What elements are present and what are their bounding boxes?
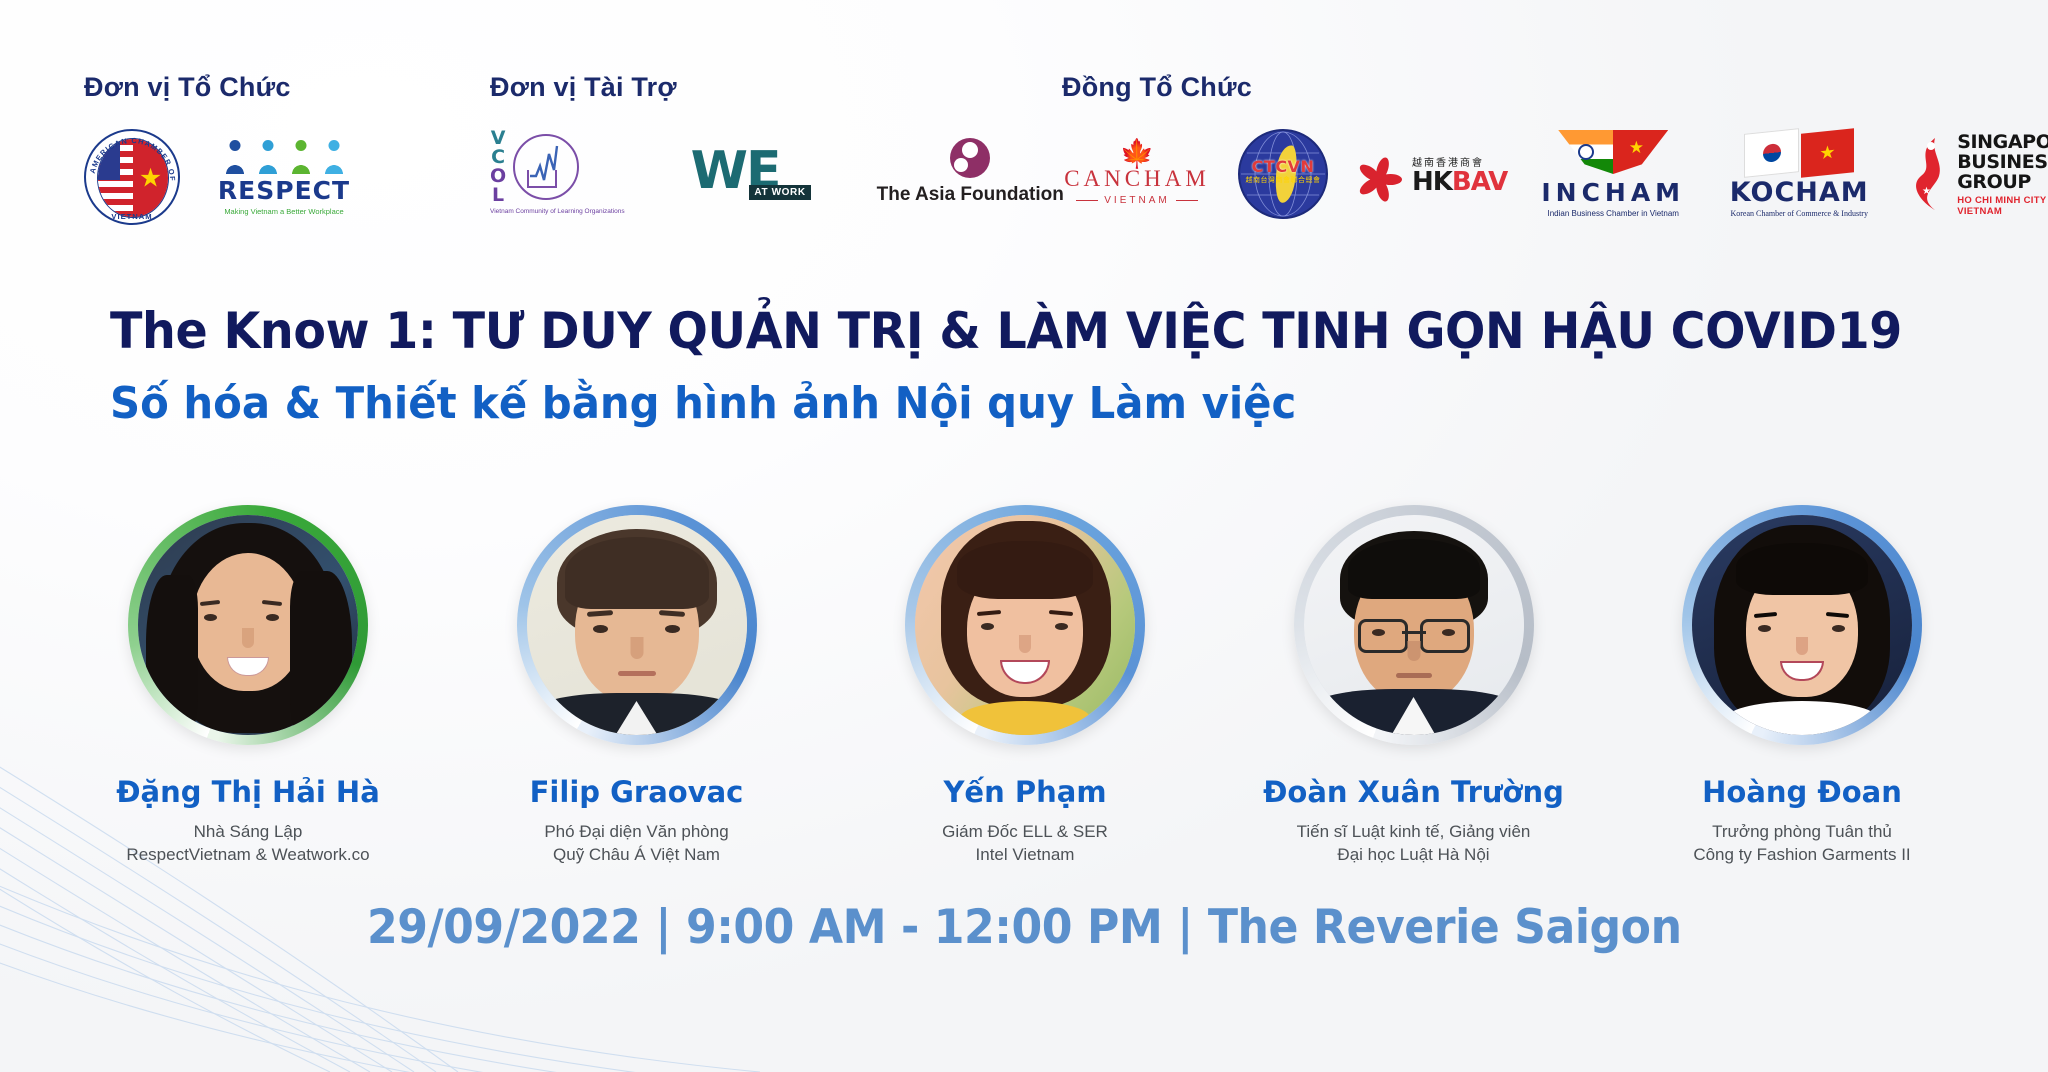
vietnam-flag [1801,128,1854,178]
speaker-photo-doan-xuan-truong [1304,515,1524,735]
speaker-role: Tiến sĩ Luật kinh tế, Giảng viên Đại học… [1226,820,1602,866]
speaker-role-line1: Giám Đốc ELL & SER [837,820,1213,843]
hkbav-bav-text: BAV [1452,167,1507,197]
speaker-card: Yến Phạm Giám Đốc ELL & SER Intel Vietna… [837,505,1213,866]
speaker-card: Hoàng Đoan Trưởng phòng Tuân thủ Công ty… [1614,505,1990,866]
speaker-photo-ring [128,505,368,745]
speaker-role: Trưởng phòng Tuân thủ Công ty Fashion Ga… [1614,820,1990,866]
band-coorganizer-title: Đồng Tổ Chức [1062,72,2048,103]
event-poster: Đơn vị Tổ Chức AMERICAN CHAMBER OF COMME… [0,0,2048,1072]
sbg-line2: BUSINESS GROUP [1957,152,2048,192]
speaker-role-line1: Tiến sĩ Luật kinh tế, Giảng viên [1226,820,1602,843]
cancham-subtitle: VIETNAM [1062,195,1212,206]
respect-wordmark: RESPECT [214,176,354,205]
band-organizer-logos: AMERICAN CHAMBER OF COMMERCE VIETNAM [84,129,354,225]
speaker-photo-dang-thi-hai-ha [138,515,358,735]
bauhinia-flower-icon [1354,151,1404,197]
ctcvn-chinese-text: 越南台灣商會聯合總會 [1240,175,1326,185]
we-at-work-logo: WE AT WORK [691,142,811,202]
band-organizer: Đơn vị Tổ Chức AMERICAN CHAMBER OF COMME… [84,72,354,225]
vcol-caption: Vietnam Community of Learning Organizati… [490,208,625,215]
speaker-role-line2: Đại học Luật Hà Nội [1226,843,1602,866]
band-coorganizer: Đồng Tổ Chức 🍁 CANCHAM VIETNAM [1062,72,2048,219]
speaker-photo-filip-graovac [527,515,747,735]
speaker-role: Giám Đốc ELL & SER Intel Vietnam [837,820,1213,866]
logo-bands: Đơn vị Tổ Chức AMERICAN CHAMBER OF COMME… [0,0,2048,250]
at-work-badge: AT WORK [749,185,810,200]
band-sponsor-title: Đơn vị Tài Trợ [490,72,1064,103]
speaker-role-line1: Nhà Sáng Lập [60,820,436,843]
ctcvn-logo: CTCVN 越南台灣商會聯合總會 [1238,129,1328,219]
speaker-name: Yến Phạm [837,775,1213,809]
asia-foundation-mark-icon [950,138,990,178]
band-coorganizer-logos: 🍁 CANCHAM VIETNAM [1062,129,2048,219]
maple-leaf-icon: 🍁 [1062,142,1212,166]
band-sponsor: Đơn vị Tài Trợ V C O L [490,72,1064,215]
speaker-card: Đoàn Xuân Trường Tiến sĩ Luật kinh tế, G… [1226,505,1602,866]
singapore-business-group-logo: ★ SINGAPORE BUSINESS GROUP HO CHI MINH C… [1905,132,2048,217]
incham-subtitle: Indian Business Chamber in Vietnam [1533,209,1693,218]
event-footer: 29/09/2022 | 9:00 AM - 12:00 PM | The Re… [0,900,2048,955]
kocham-subtitle: Korean Chamber of Commerce & Industry [1719,209,1879,218]
event-subtitle: Số hóa & Thiết kế bằng hình ảnh Nội quy … [110,378,1868,429]
india-flag [1558,130,1613,174]
cancham-vietnam-logo: 🍁 CANCHAM VIETNAM [1062,142,1212,206]
vcol-letters: V C O L [490,129,506,205]
speaker-photo-hoang-doan [1692,515,1912,735]
cancham-wordmark: CANCHAM [1062,166,1212,192]
event-datetime-venue: 29/09/2022 | 9:00 AM - 12:00 PM | The Re… [367,900,1682,955]
respect-tagline: Making Vietnam a Better Workplace [214,207,354,216]
ctcvn-wordmark: CTCVN [1240,157,1326,176]
vcol-letter-l: L [490,186,506,205]
amcham-arc-text: AMERICAN CHAMBER OF COMMERCE VIETNAM [84,129,180,225]
event-title: The Know 1: TƯ DUY QUẢN TRỊ & LÀM VIỆC T… [110,302,1868,360]
sbg-flame-icon: ★ [1905,136,1949,212]
speaker-role-line1: Trưởng phòng Tuân thủ [1614,820,1990,843]
speaker-photo-ring [1294,505,1534,745]
speaker-row: Đặng Thị Hải Hà Nhà Sáng Lập RespectViet… [60,505,1990,866]
svg-text:AMERICAN CHAMBER OF COMMERCE: AMERICAN CHAMBER OF COMMERCE [84,129,177,182]
svg-text:VIETNAM: VIETNAM [111,212,152,221]
band-sponsor-logos: V C O L Vietnam Community of [490,129,1064,215]
hkbav-hk-text: HK [1412,167,1452,197]
speaker-role: Nhà Sáng Lập RespectVietnam & Weatwork.c… [60,820,436,866]
india-vietnam-flag-icon [1558,130,1668,174]
amcham-vietnam-logo: AMERICAN CHAMBER OF COMMERCE VIETNAM [84,129,180,225]
respect-people-icon [214,138,354,174]
speaker-photo-ring [517,505,757,745]
speaker-role-line2: RespectVietnam & Weatwork.co [60,843,436,866]
kocham-logo: KOCHAM Korean Chamber of Commerce & Indu… [1719,131,1879,218]
speaker-name: Đoàn Xuân Trường [1226,775,1602,809]
korea-vietnam-flag-icon [1744,131,1854,175]
band-organizer-title: Đơn vị Tổ Chức [84,72,354,103]
speaker-name: Đặng Thị Hải Hà [60,775,436,809]
cancham-subtitle-text: VIETNAM [1104,195,1169,206]
sbg-line3: HO CHI MINH CITY VIETNAM [1957,195,2048,217]
asia-foundation-wordmark: The Asia Foundation [877,184,1064,206]
korea-flag [1744,128,1799,178]
vcol-head-icon [513,134,579,200]
speaker-name: Hoàng Đoan [1614,775,1990,809]
asia-foundation-logo: The Asia Foundation [877,138,1064,206]
speaker-card: Đặng Thị Hải Hà Nhà Sáng Lập RespectViet… [60,505,436,866]
speaker-photo-ring [905,505,1145,745]
svg-text:★: ★ [1922,186,1931,197]
hkbav-wordmark: HKBAV [1412,169,1507,195]
kocham-wordmark: KOCHAM [1719,177,1879,208]
headline-block: The Know 1: TƯ DUY QUẢN TRỊ & LÀM VIỆC T… [110,302,1960,429]
speaker-photo-ring [1682,505,1922,745]
speaker-role-line2: Công ty Fashion Garments II [1614,843,1990,866]
incham-logo: INCHAM Indian Business Chamber in Vietna… [1533,130,1693,218]
sbg-line1: SINGAPORE [1957,132,2048,152]
vcol-logo: V C O L Vietnam Community of [490,129,625,215]
speaker-photo-yen-pham [915,515,1135,735]
speaker-role-line1: Phó Đại diện Văn phòng [449,820,825,843]
respect-logo: RESPECT Making Vietnam a Better Workplac… [214,138,354,216]
speaker-name: Filip Graovac [449,775,825,809]
speaker-role-line2: Quỹ Châu Á Việt Nam [449,843,825,866]
speaker-role: Phó Đại diện Văn phòng Quỹ Châu Á Việt N… [449,820,825,866]
hkbav-logo: 越南香港商會 HKBAV [1354,151,1507,197]
vietnam-flag [1613,130,1668,174]
speaker-card: Filip Graovac Phó Đại diện Văn phòng Quỹ… [449,505,825,866]
speaker-role-line2: Intel Vietnam [837,843,1213,866]
incham-wordmark: INCHAM [1533,178,1693,207]
